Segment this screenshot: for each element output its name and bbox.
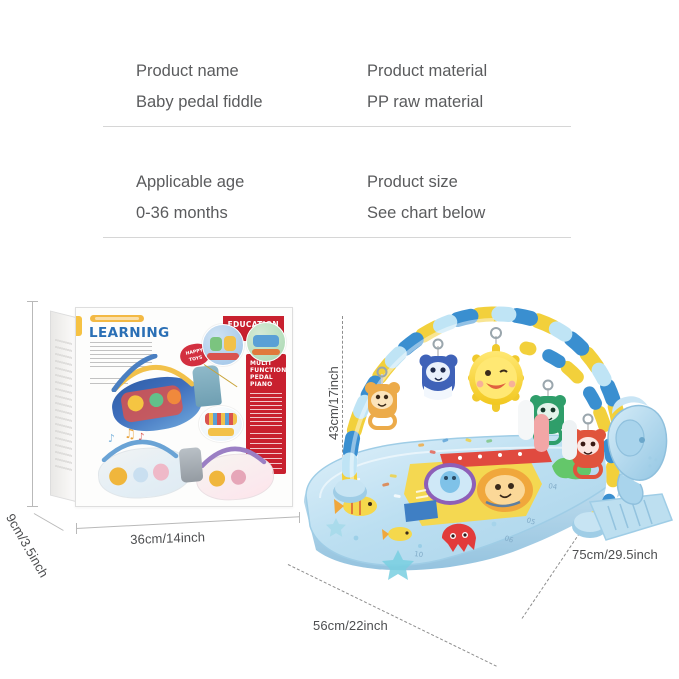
arch-socket bbox=[333, 479, 367, 503]
spec-value: PP raw material bbox=[367, 87, 571, 118]
box-headline: LEARNING bbox=[89, 325, 170, 341]
product-width-dimension-label: 56cm/22inch bbox=[313, 618, 388, 633]
box-illustration-piano-unit bbox=[192, 365, 222, 407]
spec-value: 0-36 months bbox=[136, 198, 337, 229]
spec-value: See chart below bbox=[367, 198, 571, 229]
spec-label: Product name bbox=[136, 56, 337, 87]
box-side-text-block bbox=[55, 339, 72, 473]
spec-label: Product size bbox=[367, 167, 571, 198]
spec-table: Product name Baby pedal fiddle Product m… bbox=[103, 52, 571, 240]
blue-owl-toy bbox=[420, 340, 458, 401]
spec-cell-product-material: Product material PP raw material bbox=[337, 52, 571, 126]
box-depth-guide-line bbox=[34, 513, 64, 531]
spec-row: Product name Baby pedal fiddle Product m… bbox=[103, 52, 571, 127]
spec-cell-product-size: Product size See chart below bbox=[337, 163, 571, 237]
box-red-panel-text-block-1 bbox=[250, 393, 282, 427]
spec-label: Product material bbox=[367, 56, 571, 87]
spec-label: Applicable age bbox=[136, 167, 337, 198]
box-depth-dimension-label: 9cm/3.5inch bbox=[3, 511, 52, 580]
box-side-panel bbox=[50, 311, 76, 502]
spec-cell-applicable-age: Applicable age 0-36 months bbox=[103, 163, 337, 237]
spec-row: Applicable age 0-36 months Product size … bbox=[103, 163, 571, 238]
package-box-section: 29cm/11.4inch 9cm/3.5inch 36cm/14inch LE… bbox=[18, 295, 308, 575]
mat-bubble bbox=[418, 544, 422, 548]
box-illustration-mat-bottom-right-arch bbox=[198, 438, 268, 468]
box-height-guide-tick-top bbox=[27, 301, 38, 302]
box-width-guide-tick-left bbox=[76, 523, 77, 534]
box-feature-bubble-1 bbox=[202, 324, 244, 366]
box-height-guide-line bbox=[32, 301, 33, 506]
mat-bubble bbox=[492, 522, 497, 527]
package-box: LEARNING EDUCATION MULTI FUNCTION PEDAL … bbox=[50, 307, 300, 507]
spec-value: Baby pedal fiddle bbox=[136, 87, 337, 118]
play-gym-illustration: 05 06 10 04 bbox=[290, 288, 679, 618]
box-illustration-main-arch bbox=[110, 354, 196, 392]
box-brand-pill bbox=[90, 315, 144, 322]
box-yellow-tab bbox=[75, 316, 82, 336]
box-feature-bubble-2 bbox=[246, 322, 286, 362]
box-front-panel: LEARNING EDUCATION MULTI FUNCTION PEDAL … bbox=[75, 307, 293, 507]
product-photo-section: 43cm/17inch 56cm/22inch 75cm/29.5inch bbox=[290, 288, 679, 648]
box-height-guide-tick-bottom bbox=[27, 506, 38, 507]
yellow-sun-toy bbox=[468, 328, 524, 412]
mat-lion-graphic bbox=[477, 468, 533, 512]
box-illustration-piano-unit-bottom bbox=[179, 447, 204, 483]
box-feature-bubble-3 bbox=[199, 406, 243, 442]
svg-text:10: 10 bbox=[414, 550, 424, 559]
mat-bubble bbox=[354, 536, 359, 541]
spec-cell-product-name: Product name Baby pedal fiddle bbox=[103, 52, 337, 126]
box-illustration-mat-bottom-left-arch bbox=[100, 430, 180, 462]
box-width-dimension-label: 36cm/14inch bbox=[130, 529, 205, 547]
box-red-panel-title: MULTI FUNCTION PEDAL PIANO bbox=[250, 360, 282, 388]
orange-bear-toy bbox=[365, 368, 400, 429]
box-width-guide-line bbox=[76, 516, 300, 529]
